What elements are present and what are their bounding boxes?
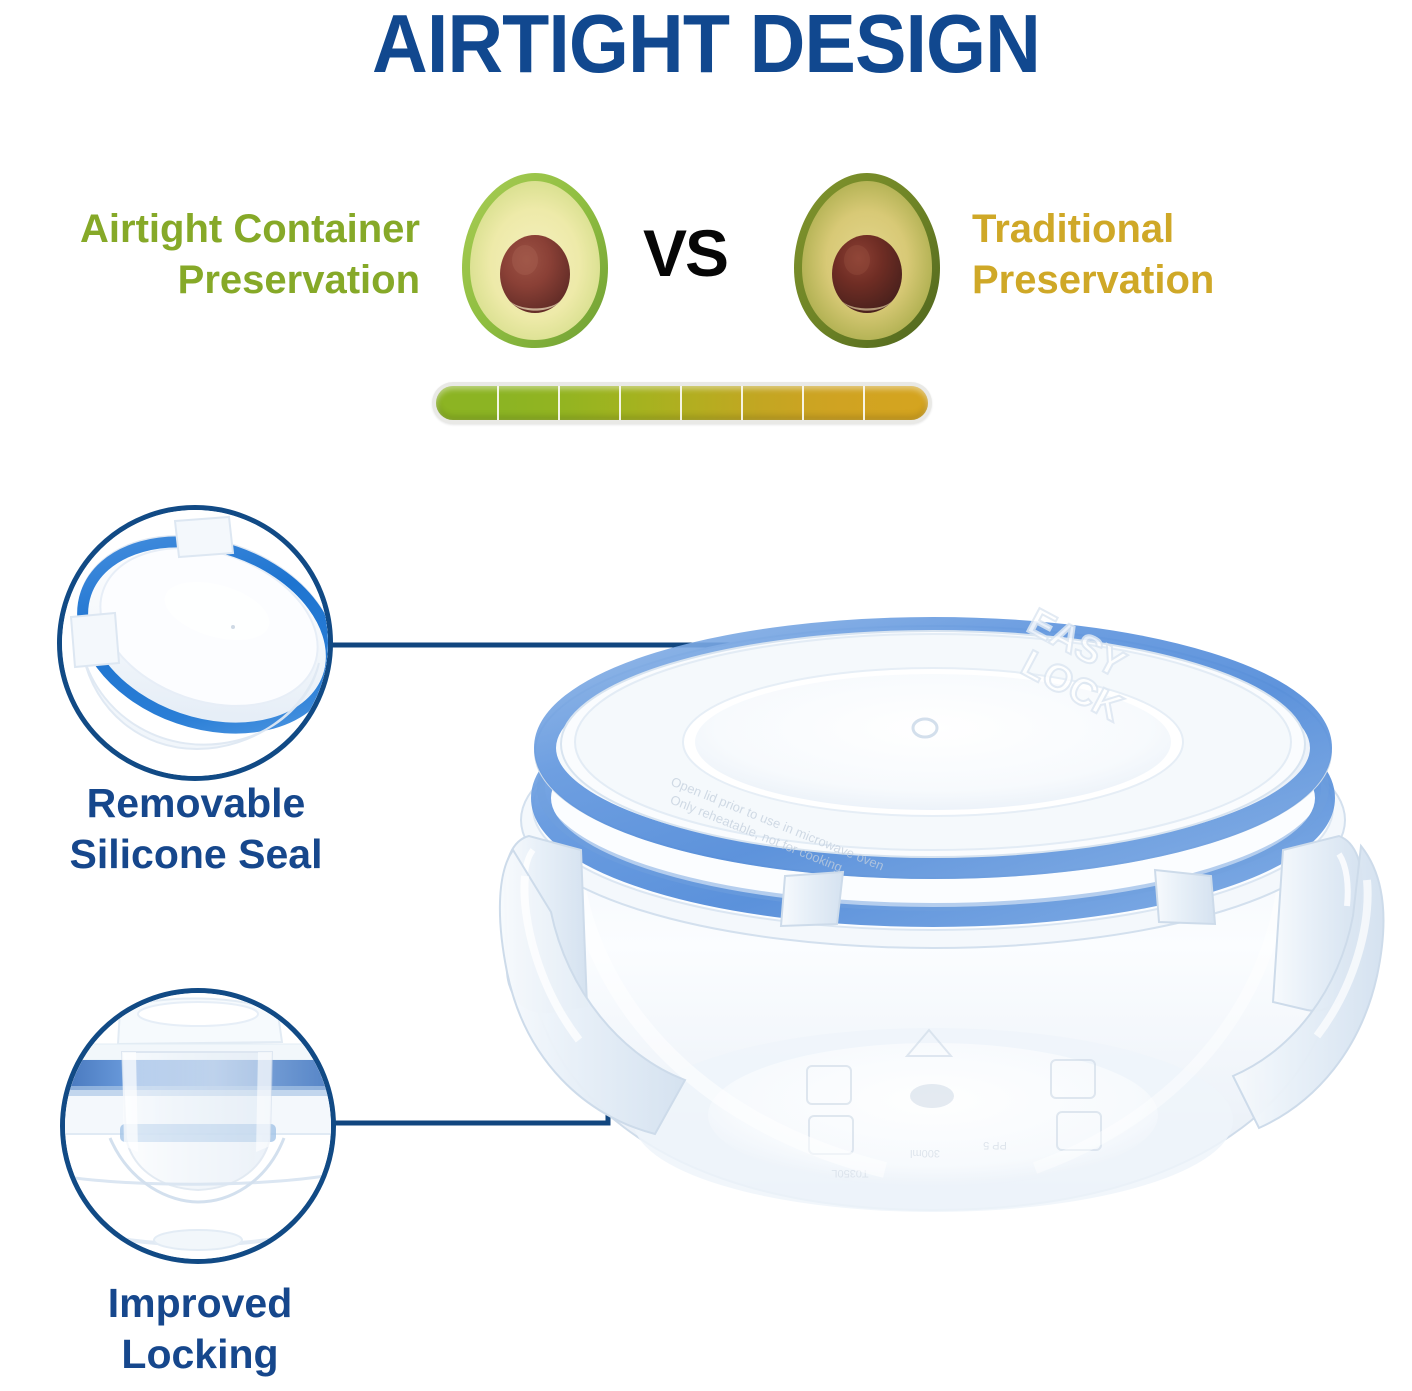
freshness-gradient-bar — [432, 382, 932, 424]
callout-silicone-seal-label-line2: Silicone Seal — [8, 829, 384, 880]
infographic-canvas: AIRTIGHT DESIGN Airtight Container Prese… — [0, 0, 1412, 1391]
freshness-gradient-track — [436, 386, 928, 420]
callout-improved-locking-label-line2: Locking — [12, 1329, 388, 1380]
fresh-avocado-half-image — [448, 168, 623, 353]
airtight-preservation-label-line1: Airtight Container — [0, 204, 420, 255]
callout-silicone-seal-inset — [57, 505, 333, 781]
airtight-preservation-label-line2: Preservation — [0, 255, 420, 306]
browned-avocado-half-image — [780, 168, 955, 353]
versus-label: VS — [620, 215, 750, 291]
traditional-preservation-label-line1: Traditional — [972, 204, 1402, 255]
callout-improved-locking-label: Improved Locking — [12, 1278, 388, 1381]
callout-improved-locking-inset — [60, 988, 336, 1264]
traditional-preservation-label-line2: Preservation — [972, 255, 1402, 306]
callout-silicone-seal-label-line1: Removable — [8, 778, 384, 829]
product-container-image: 300ml PP 5 T0350L — [455, 520, 1412, 1320]
callout-improved-locking-label-line1: Improved — [12, 1278, 388, 1329]
base-material-code-text: PP 5 — [983, 1139, 1007, 1151]
base-capacity-text: 300ml — [910, 1147, 940, 1159]
airtight-preservation-label: Airtight Container Preservation — [0, 204, 420, 306]
page-title: AIRTIGHT DESIGN — [49, 2, 1362, 85]
callout-silicone-seal-label: Removable Silicone Seal — [8, 778, 384, 881]
traditional-preservation-label: Traditional Preservation — [972, 204, 1402, 306]
